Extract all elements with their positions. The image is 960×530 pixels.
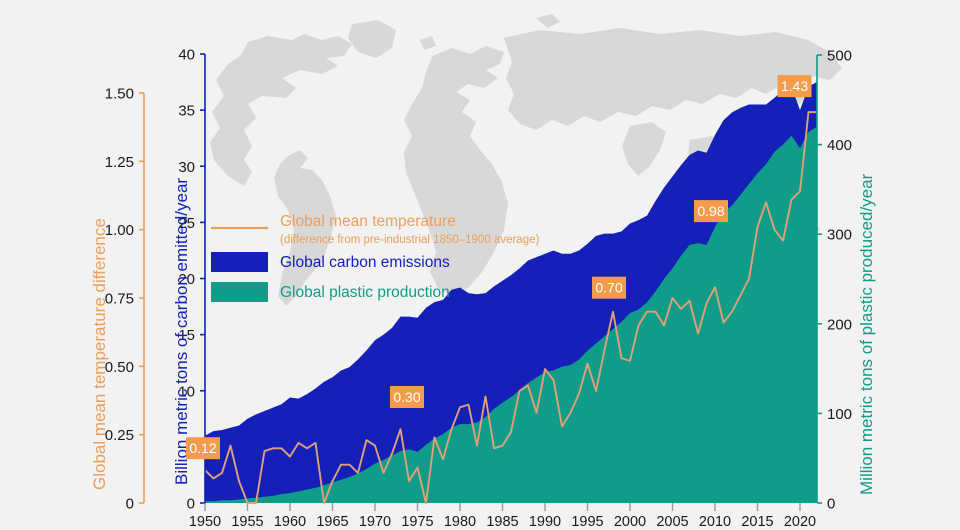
x-axis-tick-label: 1980 [444,514,476,530]
axis-temp-tick-label: 1.25 [105,154,134,171]
axis-temp-tick-label: 0.25 [105,427,134,444]
axis-temp-tick-label: 1.00 [105,222,134,239]
axis-temp-tick-label: 0 [126,496,134,513]
x-axis-tick-label: 1965 [316,514,348,530]
x-axis-tick-label: 2015 [741,514,773,530]
chart-root: 00.250.500.751.001.251.50 05101520253035… [0,0,960,530]
annotation-value: 0.30 [393,389,420,405]
x-axis-tick-label: 1960 [274,514,306,530]
legend-sublabel-temperature: (difference from pre-industrial 1850–190… [280,234,539,246]
x-axis-tick-label: 1950 [189,514,221,530]
x-axis-tick-label: 2020 [784,514,816,530]
axis-temp-tick-label: 1.50 [105,86,134,103]
x-axis-tick-label: 1985 [486,514,518,530]
axis-carbon-tick-label: 30 [178,159,195,176]
axis-carbon-tick-label: 35 [178,103,195,120]
x-axis-tick-label: 2005 [656,514,688,530]
axis-carbon-tick-label: 40 [178,47,195,64]
x-axis-tick-label: 1955 [231,514,263,530]
axis-plastic-tick-label: 500 [827,48,852,65]
annotation-label: 0.30 [390,386,424,408]
legend-swatch-carbon [211,252,268,272]
x-axis-tick-label: 2010 [699,514,731,530]
axis-plastic-tick-label: 100 [827,406,852,423]
x-axis-tick-label: 1990 [529,514,561,530]
legend-label-carbon: Global carbon emissions [280,254,450,271]
axis-temp-tick-label: 0.50 [105,359,134,376]
x-axis-tick-label: 2000 [614,514,646,530]
annotation-value: 0.98 [697,203,724,219]
climate-plastic-carbon-chart: 00.250.500.751.001.251.50 05101520253035… [0,0,960,530]
annotation-label: 0.70 [592,277,626,299]
right-plastic-axis-title: Million metric tons of plastic produced/… [857,173,876,495]
legend-label-temperature: Global mean temperature [280,213,456,230]
x-axis-tick-label: 1970 [359,514,391,530]
axis-plastic-tick-label: 400 [827,137,852,154]
annotation-label: 0.12 [186,437,220,459]
annotation-value: 1.43 [781,78,808,94]
annotation-label: 0.98 [694,200,728,222]
annotation-value: 0.70 [595,280,622,296]
x-axis-tick-label: 1975 [401,514,433,530]
annotation-label: 1.43 [778,75,812,97]
left-temperature-axis-title: Global mean temperature difference [90,218,109,490]
legend-swatch-plastic [211,282,268,302]
axis-temp-tick-label: 0.75 [105,291,134,308]
axis-carbon-tick-label: 0 [187,496,195,513]
axis-plastic-tick-label: 300 [827,227,852,244]
x-axis-tick-label: 1995 [571,514,603,530]
annotation-value: 0.12 [189,440,216,456]
legend-label-plastic: Global plastic production [280,284,450,301]
axis-plastic-tick-label: 200 [827,316,852,333]
axis-plastic-tick-label: 0 [827,496,835,513]
